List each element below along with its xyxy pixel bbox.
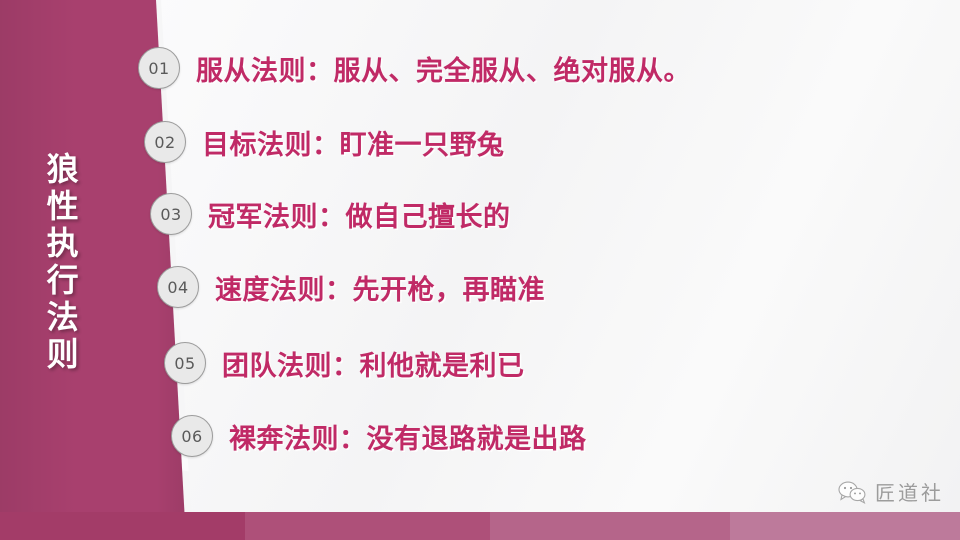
list-item[interactable]: 01 服从法则：服从、完全服从、绝对服从。 (138, 47, 691, 89)
wechat-icon (837, 480, 867, 504)
list-item[interactable]: 02 目标法则：盯准一只野兔 (144, 121, 505, 163)
watermark: 匠道社 (837, 477, 944, 506)
rules-list: 01 服从法则：服从、完全服从、绝对服从。 02 目标法则：盯准一只野兔 03 … (0, 0, 960, 540)
slide-canvas: 狼性执行法则 01 服从法则：服从、完全服从、绝对服从。 02 目标法则：盯准一… (0, 0, 960, 540)
rule-number-badge: 03 (150, 193, 192, 235)
rule-number-badge: 01 (138, 47, 180, 89)
watermark-label: 匠道社 (875, 477, 944, 506)
rule-number-badge: 05 (164, 342, 206, 384)
list-item[interactable]: 05 团队法则：利他就是利已 (164, 342, 525, 384)
list-item[interactable]: 04 速度法则：先开枪，再瞄准 (157, 266, 545, 308)
rule-text: 速度法则：先开枪，再瞄准 (215, 268, 545, 307)
rule-number-badge: 02 (144, 121, 186, 163)
list-item[interactable]: 06 裸奔法则：没有退路就是出路 (171, 415, 587, 457)
list-item[interactable]: 03 冠军法则：做自己擅长的 (150, 193, 511, 235)
rule-text: 冠军法则：做自己擅长的 (208, 195, 511, 234)
rule-text: 目标法则：盯准一只野兔 (202, 123, 505, 162)
rule-number-badge: 04 (157, 266, 199, 308)
page-title: 狼性执行法则 (44, 152, 77, 374)
rule-text: 服从法则：服从、完全服从、绝对服从。 (196, 49, 691, 88)
rule-number-badge: 06 (171, 415, 213, 457)
rule-text: 团队法则：利他就是利已 (222, 344, 525, 383)
rule-text: 裸奔法则：没有退路就是出路 (229, 417, 587, 456)
